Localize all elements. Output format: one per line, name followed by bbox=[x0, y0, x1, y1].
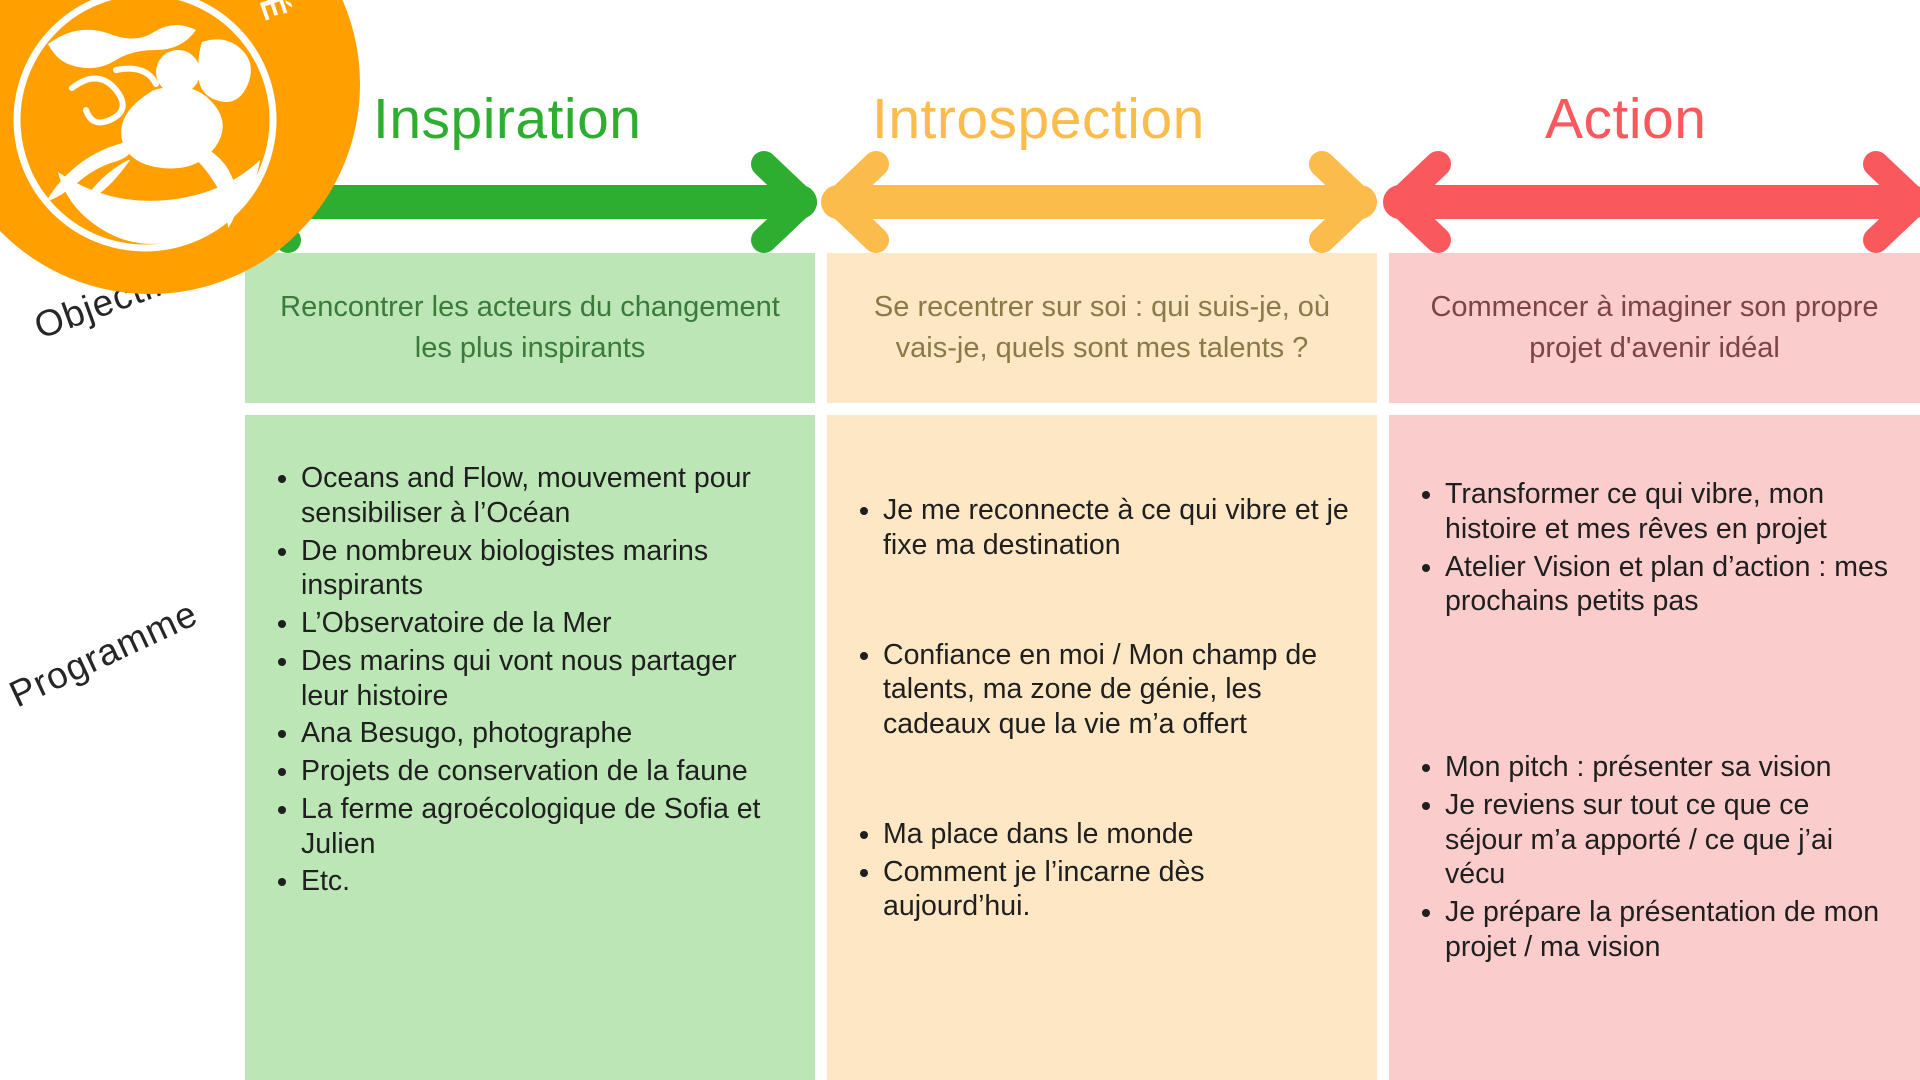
programme-list-item: Je reviens sur tout ce que ce séjour m’a… bbox=[1445, 788, 1894, 892]
arrow-action bbox=[1398, 164, 1916, 240]
objective-card-action: Commencer à imaginer son propre projet d… bbox=[1389, 253, 1920, 403]
programme-list: Transformer ce qui vibre, mon histoire e… bbox=[1389, 477, 1920, 622]
programme-list-item: Je me reconnecte à ce qui vibre et je fi… bbox=[883, 493, 1351, 563]
objective-text-action: Commencer à imaginer son propre projet d… bbox=[1389, 287, 1920, 369]
programme-list: Ma place dans le mondeComment je l’incar… bbox=[827, 817, 1377, 927]
programme-card-action: Transformer ce qui vibre, mon histoire e… bbox=[1389, 415, 1920, 1080]
programme-list-item: Des marins qui vont nous partager leur h… bbox=[301, 644, 789, 714]
programme-list-item: Etc. bbox=[301, 864, 789, 899]
programme-card-inspiration: Oceans and Flow, mouvement pour sensibil… bbox=[245, 415, 815, 1080]
objective-card-introspection: Se recentrer sur soi : qui suis-je, où v… bbox=[827, 253, 1377, 403]
programme-list-item: L’Observatoire de la Mer bbox=[301, 606, 789, 641]
programme-list: Je me reconnecte à ce qui vibre et je fi… bbox=[827, 493, 1377, 566]
arrow-introspection bbox=[836, 164, 1362, 240]
programme-list-item: Je prépare la présentation de mon projet… bbox=[1445, 895, 1894, 965]
logo-artwork: UN MONDE RÉENCHANTÉ bbox=[0, 0, 360, 294]
objective-text-introspection: Se recentrer sur soi : qui suis-je, où v… bbox=[827, 287, 1377, 369]
programme-list-item: Ana Besugo, photographe bbox=[301, 716, 789, 751]
programme-list-item: Comment je l’incarne dès aujourd’hui. bbox=[883, 855, 1351, 925]
programme-list: Mon pitch : présenter sa visionJe revien… bbox=[1389, 750, 1920, 968]
programme-list: Confiance en moi / Mon champ de talents,… bbox=[827, 638, 1377, 745]
programme-list-item: De nombreux biologistes marins inspirant… bbox=[301, 534, 789, 604]
programme-list-item: Confiance en moi / Mon champ de talents,… bbox=[883, 638, 1351, 742]
programme-list: Oceans and Flow, mouvement pour sensibil… bbox=[245, 461, 815, 902]
programme-list-item: Projets de conservation de la faune bbox=[301, 754, 789, 789]
svg-text:RÉENCHANTÉ: RÉENCHANTÉ bbox=[45, 0, 296, 27]
programme-list-item: Mon pitch : présenter sa vision bbox=[1445, 750, 1894, 785]
programme-list-item: Atelier Vision et plan d’action : mes pr… bbox=[1445, 550, 1894, 620]
programme-list-item: Transformer ce qui vibre, mon histoire e… bbox=[1445, 477, 1894, 547]
programme-card-introspection: Je me reconnecte à ce qui vibre et je fi… bbox=[827, 415, 1377, 1080]
logo-text-curved-top: RÉENCHANTÉ bbox=[45, 0, 296, 27]
objective-text-inspiration: Rencontrer les acteurs du changement les… bbox=[245, 287, 815, 369]
programme-list-item: Oceans and Flow, mouvement pour sensibil… bbox=[301, 461, 789, 531]
programme-list-item: Ma place dans le monde bbox=[883, 817, 1351, 852]
brand-logo: UN MONDE RÉENCHANTÉ bbox=[0, 0, 360, 294]
programme-list-item: La ferme agroécologique de Sofia et Juli… bbox=[301, 792, 789, 862]
